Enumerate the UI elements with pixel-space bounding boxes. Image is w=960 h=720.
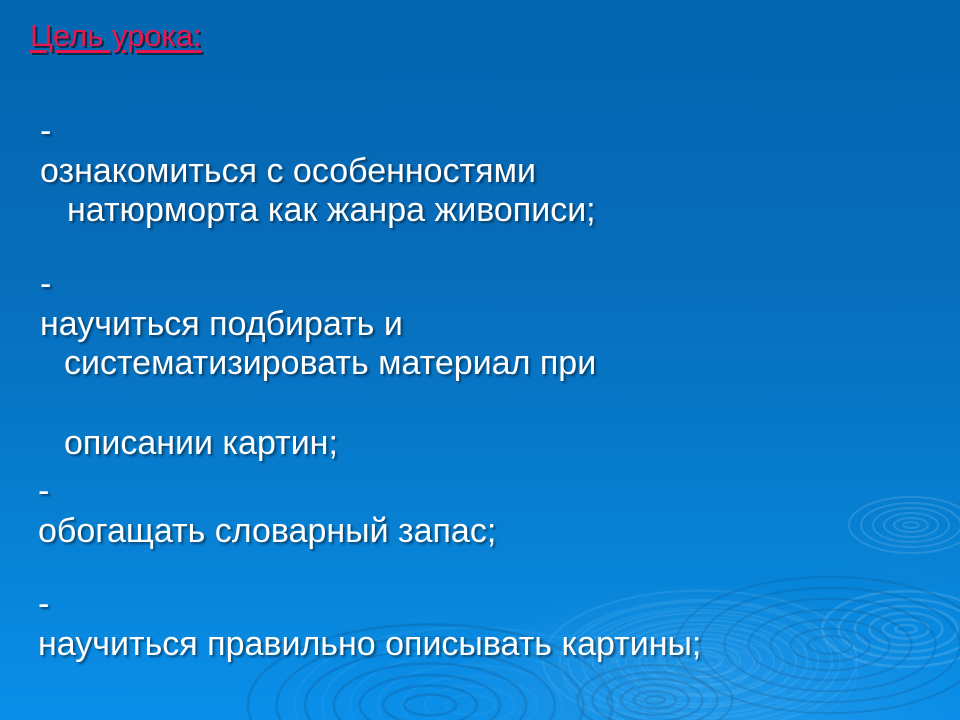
- slide-title: Цель урока:: [30, 20, 202, 53]
- bullet-line-1-1: ознакомиться с особенностями: [40, 152, 536, 190]
- bullet-marker-4: -: [38, 585, 49, 623]
- presentation-slide: Цель урока: - ознакомиться с особенностя…: [0, 0, 960, 720]
- bullet-line-3-1: обогащать словарный запас;: [38, 512, 496, 550]
- bullet-line-4-1: научиться правильно описывать картины;: [38, 625, 701, 663]
- bullet-marker-2: -: [40, 265, 51, 303]
- bullet-item-4: - научиться правильно описывать картины;: [38, 545, 938, 664]
- bullet-line-2-1: научиться подбирать и: [40, 305, 403, 343]
- slide-content: Цель урока: - ознакомиться с особенностя…: [0, 0, 960, 720]
- bullet-marker-3: -: [38, 472, 49, 510]
- bullet-marker-1: -: [40, 112, 51, 150]
- bullet-line-2-2: систематизировать материал при: [40, 344, 780, 384]
- bullet-item-3: - обогащать словарный запас;: [38, 432, 738, 551]
